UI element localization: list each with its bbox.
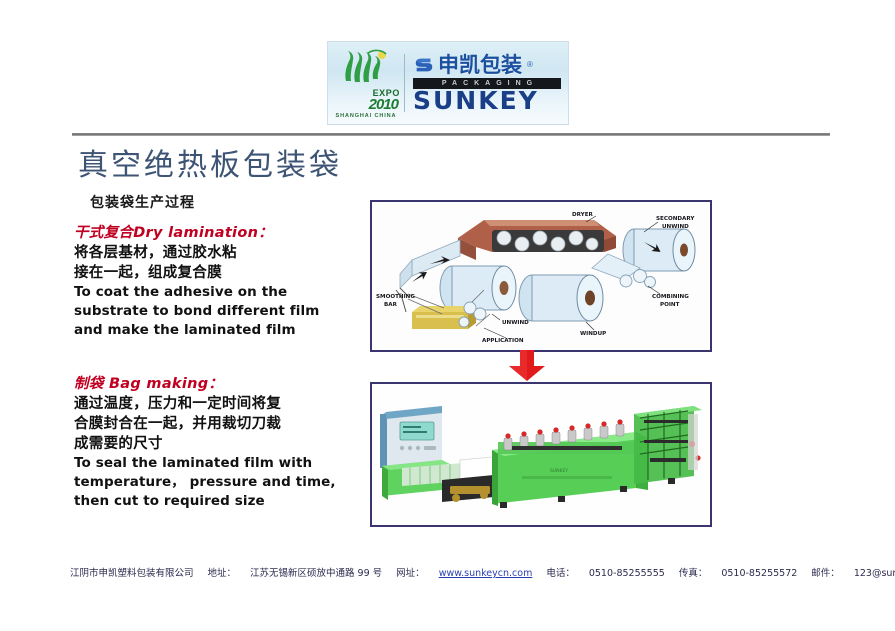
machine-decal: SUNKEY — [550, 468, 568, 474]
footer-website-label: 网址： — [396, 565, 425, 579]
label-smoothing-bar-2: BAR — [384, 302, 398, 308]
brand-word: SUNKEY — [413, 88, 568, 113]
section-subheading: 包装袋生产过程 — [90, 192, 195, 212]
title-divider-rule — [72, 133, 830, 136]
footer-email: 123@sunkeycn.com — [854, 568, 895, 579]
footer-contact-bar: 江阴市申凯塑料包装有限公司 地址： 江苏无锡新区硕放中通路 99 号 网址： w… — [70, 565, 870, 579]
footer-website-link[interactable]: www.sunkeycn.com — [439, 568, 533, 579]
footer-company: 江阴市申凯塑料包装有限公司 — [70, 565, 194, 579]
footer-fax-label: 传真： — [679, 565, 708, 579]
dry-lamination-heading: 干式复合Dry lamination： — [74, 224, 374, 243]
bag-making-heading: 制袋 Bag making： — [74, 375, 374, 394]
label-application: APPLICATION — [482, 338, 524, 344]
brand-chinese-name: 申凯包装 — [438, 54, 522, 76]
label-combining-point-2: POINT — [660, 302, 680, 308]
red-down-arrow-icon — [505, 350, 549, 382]
dry-lamination-cn-line-1: 将各层基材，通过胶水粘 — [74, 243, 374, 263]
expo-figure-icon — [338, 47, 394, 87]
footer-phone-label: 电话： — [546, 565, 575, 579]
label-combining-point-1: COMBINING — [652, 294, 689, 300]
label-dryer: DRYER — [572, 212, 594, 218]
label-secondary-unwind-1: SECONDARY — [656, 216, 695, 222]
bag-making-machine-frame: SUNKEY — [370, 382, 712, 527]
footer-email-label: 邮件： — [811, 565, 840, 579]
bag-making-machine-photo: SUNKEY — [372, 384, 710, 525]
dry-lamination-en-line-1: To coat the adhesive on the — [74, 283, 374, 302]
registered-trademark-icon: ® — [527, 60, 533, 69]
sunkey-s-icon — [413, 54, 435, 76]
footer-fax: 0510-85255572 — [721, 568, 797, 579]
page-title: 真空绝热板包装袋 — [78, 140, 342, 184]
dry-lamination-en-line-3: and make the laminated film — [74, 321, 374, 340]
label-secondary-unwind-2: UNWIND — [662, 224, 689, 230]
footer-address-label: 地址： — [208, 565, 237, 579]
label-smoothing-bar-1: SMOOTHING — [376, 294, 415, 300]
expo-city: SHANGHAI CHINA — [336, 112, 397, 120]
dry-lamination-diagram: DRYER SECONDARY UNWIND SMOOTHING BAR UNW… — [372, 202, 710, 350]
dry-lamination-cn-line-2: 接在一起，组成复合膜 — [74, 263, 374, 283]
bag-making-cn-line-3: 成需要的尺寸 — [74, 434, 374, 454]
footer-phone: 0510-85255555 — [589, 568, 665, 579]
bag-making-en-line-2: temperature， pressure and time, — [74, 473, 374, 492]
bag-making-en-line-1: To seal the laminated film with — [74, 454, 374, 473]
dry-lamination-en-line-2: substrate to bond different film — [74, 302, 374, 321]
bag-making-text-block: 制袋 Bag making： 通过温度，压力和一定时间将复 合膜封合在一起，并用… — [74, 375, 374, 511]
sunkey-brand-logo: 申凯包装 ® PACKAGING SUNKEY — [405, 42, 568, 124]
company-logo-banner: EXPO 2010 SHANGHAI CHINA 申凯包装 ® PACKAGIN… — [328, 42, 568, 124]
bag-making-cn-line-2: 合膜封合在一起，并用裁切刀裁 — [74, 414, 374, 434]
dry-lamination-text-block: 干式复合Dry lamination： 将各层基材，通过胶水粘 接在一起，组成复… — [74, 224, 374, 340]
dry-lamination-diagram-frame: DRYER SECONDARY UNWIND SMOOTHING BAR UNW… — [370, 200, 712, 352]
label-unwind: UNWIND — [502, 320, 529, 326]
expo-year: 2010 — [369, 98, 398, 112]
bag-making-en-line-3: then cut to required size — [74, 492, 374, 511]
label-windup: WINDUP — [580, 331, 606, 337]
footer-address: 江苏无锡新区硕放中通路 99 号 — [250, 565, 382, 579]
expo-2010-logo: EXPO 2010 SHANGHAI CHINA — [328, 42, 404, 124]
bag-making-cn-line-1: 通过温度，压力和一定时间将复 — [74, 394, 374, 414]
